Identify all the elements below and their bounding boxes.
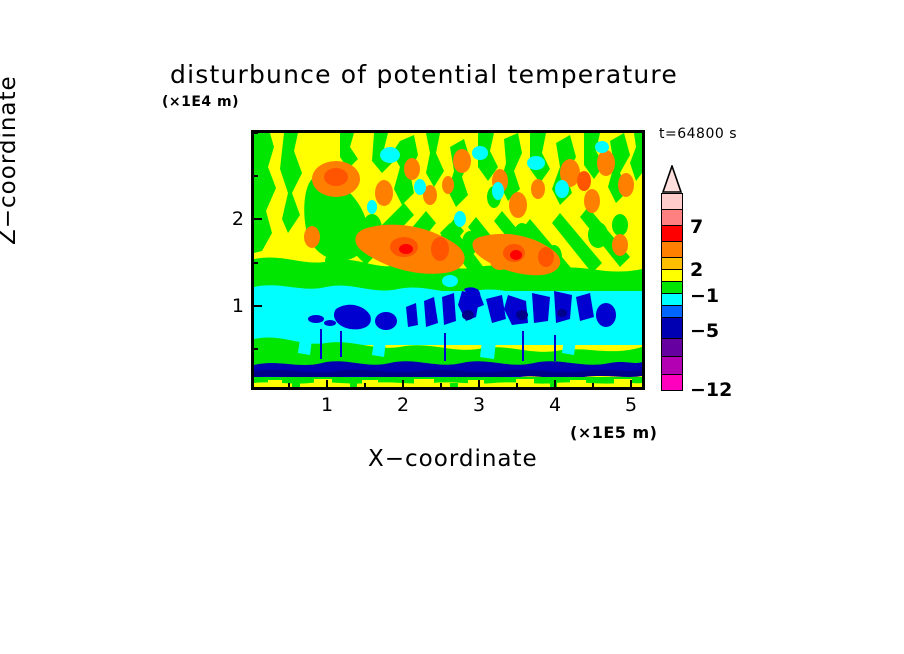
colorbar-segment [661,374,683,391]
y-tick-1 [251,305,262,307]
contour-field [254,133,642,387]
x-axis-unit-label: (×1E5 m) [570,423,657,442]
y-tick-2 [251,218,262,220]
colorbar-segment [661,225,683,242]
x-tick-label: 2 [383,394,423,416]
colorbar-label: −1 [690,285,719,307]
y-tick-minor [251,175,258,177]
colorbar-segment [661,209,683,226]
x-tick-minor [288,383,290,390]
y-axis-unit-label: (×1E4 m) [162,94,239,110]
colorbar[interactable] [661,165,683,390]
x-tick-1 [326,380,328,390]
x-tick-label: 3 [459,394,499,416]
figure-canvas: disturbunce of potential temperature (×1… [0,0,904,654]
colorbar-label: −12 [690,379,732,401]
y-tick-minor [251,132,258,134]
y-tick-label: 1 [222,295,244,317]
x-tick-4 [554,380,556,390]
y-tick-minor [251,262,258,264]
x-axis-title: X−coordinate [368,446,538,472]
page-title: disturbunce of potential temperature [170,60,770,89]
x-tick-minor [440,383,442,390]
x-tick-label: 1 [307,394,347,416]
colorbar-label: 2 [690,259,703,281]
colorbar-label: 7 [690,216,703,238]
colorbar-segment [661,356,683,375]
plot-area [251,130,645,390]
colorbar-segment [661,338,683,357]
colorbar-segment [661,317,683,339]
y-axis-title: Z−coordinate [0,75,21,245]
x-tick-5 [630,380,632,390]
x-tick-minor [516,383,518,390]
colorbar-segment [661,241,683,258]
time-annotation: t=64800 s [659,126,737,142]
x-tick-3 [478,380,480,390]
x-tick-label: 5 [611,394,651,416]
colorbar-arrow-icon [661,165,683,193]
x-tick-minor [364,383,366,390]
y-tick-minor [251,348,258,350]
x-tick-2 [402,380,404,390]
y-tick-label: 2 [222,208,244,230]
x-tick-minor [592,383,594,390]
colorbar-label: −5 [690,320,719,342]
colorbar-segment [661,193,683,210]
x-tick-label: 4 [535,394,575,416]
